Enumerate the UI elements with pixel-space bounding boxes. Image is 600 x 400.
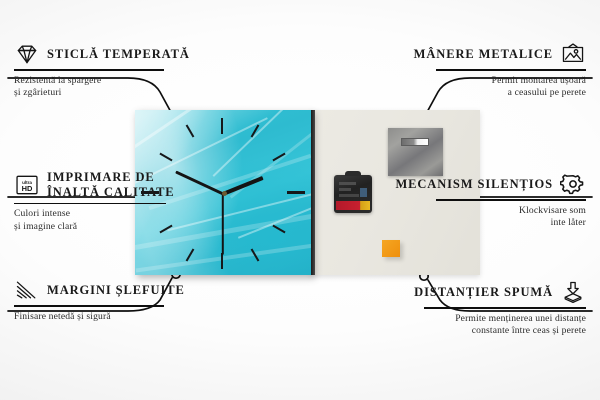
callout-rule bbox=[436, 69, 586, 71]
hanger-slot bbox=[401, 138, 429, 146]
mechanism-tab bbox=[345, 171, 361, 176]
clock-tick bbox=[159, 153, 172, 162]
callout-title: MECANISM SILENȚIOS bbox=[395, 177, 553, 192]
callout-rule bbox=[436, 199, 586, 201]
beveled-edge-icon bbox=[14, 278, 40, 302]
callout-title: IMPRIMARE DE ÎNALTĂ CALITATE bbox=[47, 170, 177, 200]
ultra-hd-icon: ultra HD bbox=[14, 173, 40, 197]
svg-text:HD: HD bbox=[22, 184, 33, 193]
clock-tick bbox=[287, 191, 305, 194]
clock-tick bbox=[221, 253, 223, 269]
press-down-icon bbox=[560, 280, 586, 304]
callout-desc: Permit montarea ușoarăa ceasului pe pere… bbox=[371, 75, 586, 100]
callout-desc: Culori intenseși imagine clară bbox=[14, 208, 229, 233]
callout-title: STICLĂ TEMPERATĂ bbox=[47, 47, 190, 62]
callout-desc: Permite menținerea unei distanțeconstant… bbox=[371, 313, 586, 338]
callout-tempered-glass: STICLĂ TEMPERATĂ Rezistentă la spargereș… bbox=[14, 42, 229, 100]
callout-title: DISTANȚIER SPUMĂ bbox=[414, 285, 553, 300]
callout-rule bbox=[424, 307, 586, 309]
mechanism-detail bbox=[360, 188, 367, 197]
callout-rule bbox=[14, 305, 164, 307]
mechanism-detail bbox=[339, 182, 356, 185]
callout-silent-mechanism: MECANISM SILENȚIOS Klockvisare sominte l… bbox=[371, 172, 586, 230]
metal-hanger-plate bbox=[388, 128, 443, 176]
infographic-stage: STICLĂ TEMPERATĂ Rezistentă la spargereș… bbox=[0, 0, 600, 400]
callout-rule bbox=[14, 69, 164, 71]
clock-tick bbox=[221, 118, 223, 134]
mechanism-detail bbox=[339, 188, 351, 191]
hanging-frame-icon bbox=[560, 42, 586, 66]
callout-metal-handles: MÂNERE METALICE Permit montarea ușoarăa … bbox=[371, 42, 586, 100]
callout-title: MARGINI ȘLEFUITE bbox=[47, 283, 185, 298]
clock-mechanism bbox=[334, 175, 372, 213]
callout-desc: Klockvisare sominte låter bbox=[371, 205, 586, 230]
clock-glass-edge bbox=[311, 110, 315, 275]
callout-title: MÂNERE METALICE bbox=[414, 47, 553, 62]
clock-tick bbox=[186, 124, 195, 137]
callout-high-quality-print: ultra HD IMPRIMARE DE ÎNALTĂ CALITATE Cu… bbox=[14, 170, 229, 233]
callout-rule bbox=[14, 203, 166, 205]
callout-polished-edges: MARGINI ȘLEFUITE Finisare netedă și sigu… bbox=[14, 278, 229, 323]
callout-desc: Finisare netedă și sigură bbox=[14, 311, 229, 324]
gear-icon bbox=[560, 172, 586, 196]
diamond-icon bbox=[14, 42, 40, 66]
mechanism-label bbox=[336, 201, 370, 210]
clock-tick bbox=[272, 225, 285, 234]
foam-spacer-part bbox=[382, 240, 400, 257]
callout-foam-spacer: DISTANȚIER SPUMĂ Permite menținerea unei… bbox=[371, 280, 586, 338]
mechanism-detail bbox=[339, 194, 359, 197]
callout-desc: Rezistentă la spargereși zgârieturi bbox=[14, 75, 229, 100]
